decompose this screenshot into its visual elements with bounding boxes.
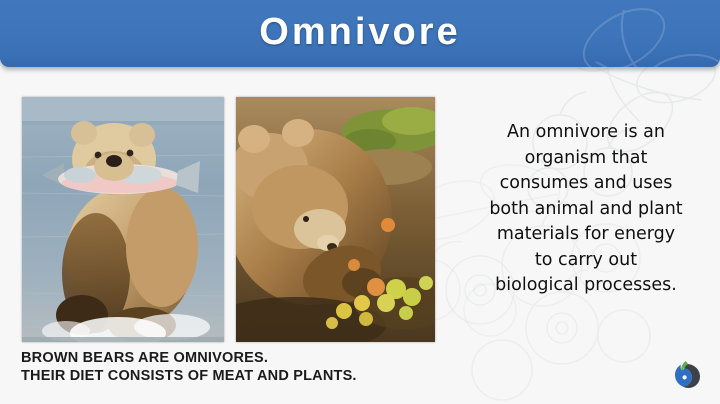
bear-with-fish-illustration	[22, 97, 224, 342]
definition-line-7: biological processes.	[455, 273, 717, 299]
definition-line-4: both animal and plant	[455, 197, 717, 223]
definition-line-5: materials for energy	[455, 222, 717, 248]
definition-line-2: organism that	[455, 146, 717, 172]
definition-line-6: to carry out	[455, 248, 717, 274]
slide-header-bar: Omnivore	[0, 0, 720, 67]
caption-line-2: THEIR DIET CONSISTS OF MEAT AND PLANTS.	[21, 367, 441, 385]
b-swirl-logo[interactable]	[670, 358, 704, 392]
slide-canvas: Omnivore	[0, 0, 720, 404]
definition-line-1: An omnivore is an	[455, 120, 717, 146]
bear-with-fruit-illustration	[236, 97, 435, 342]
photo-bear-carrying-salmon	[22, 97, 224, 342]
page-title: Omnivore	[0, 0, 720, 67]
definition-text: An omnivore is an organism that consumes…	[455, 120, 717, 299]
caption-line-1: BROWN BEARS ARE OMNIVORES.	[21, 349, 441, 367]
definition-line-3: consumes and uses	[455, 171, 717, 197]
photo-caption: BROWN BEARS ARE OMNIVORES. THEIR DIET CO…	[21, 349, 441, 385]
photo-bear-eating-apples	[236, 97, 435, 342]
